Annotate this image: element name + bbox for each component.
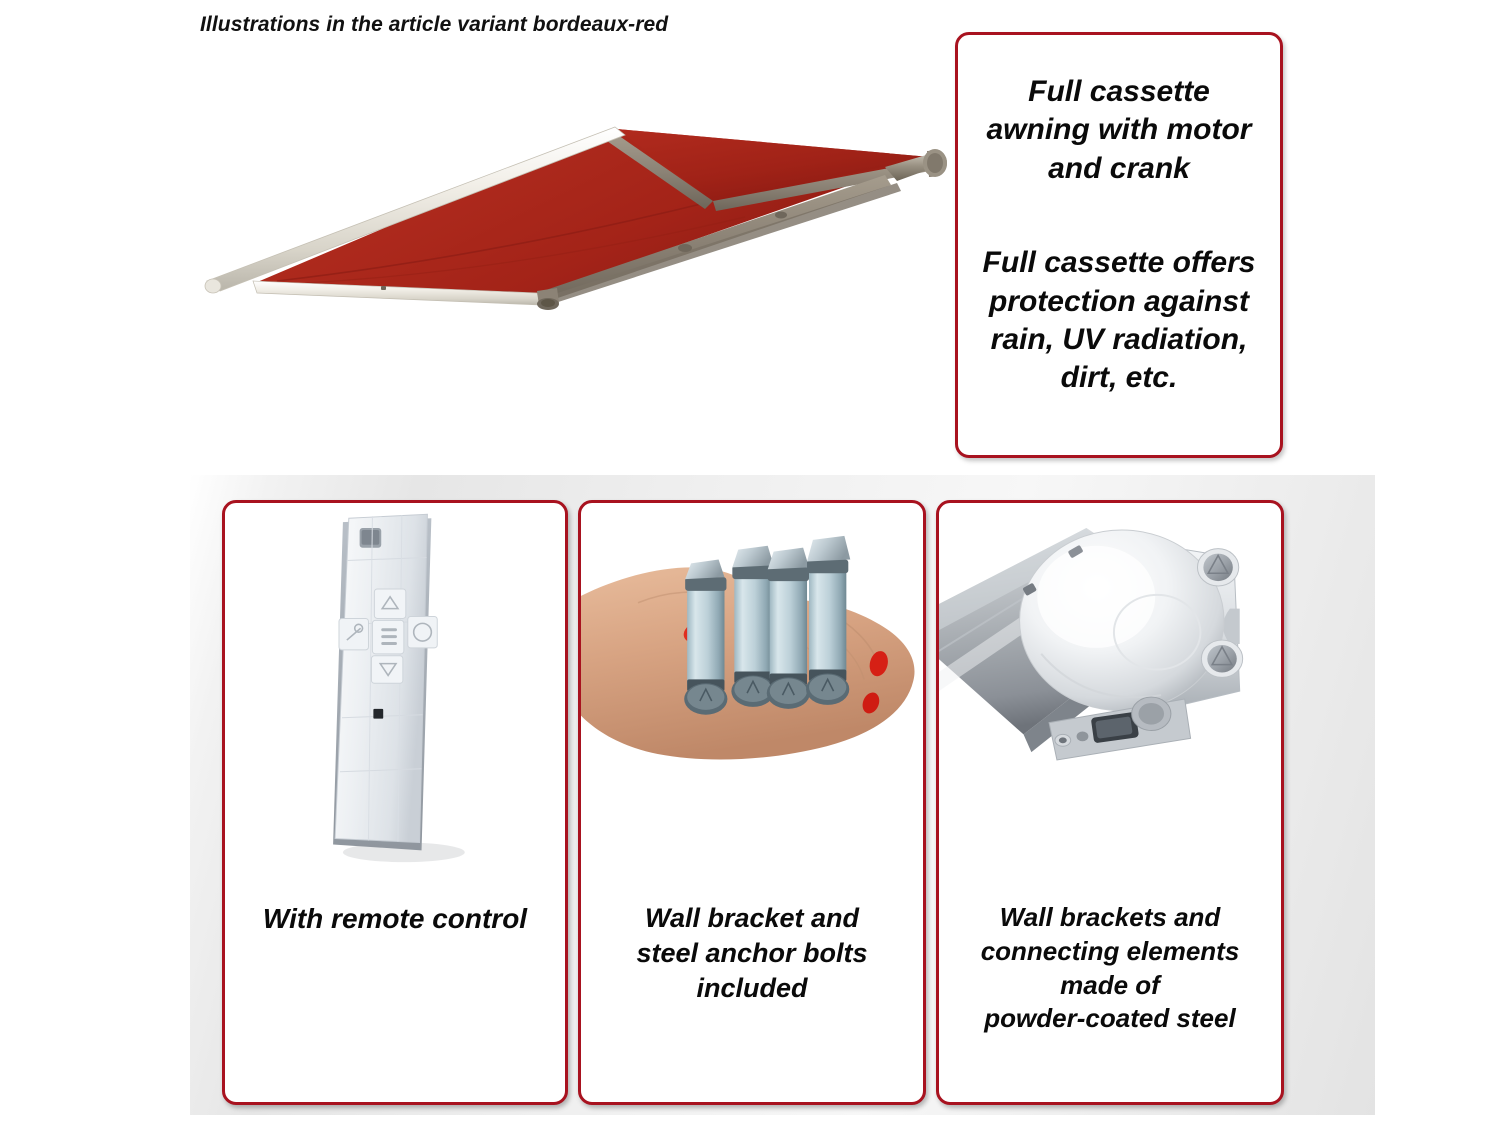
- feature-paragraph-1: Full cassette awning with motor and cran…: [974, 73, 1264, 188]
- card-wall-bracket: Wall brackets and connecting elements ma…: [936, 500, 1284, 1105]
- card-remote-control: With remote control: [222, 500, 568, 1105]
- anchor-bolts-in-hand-image: [581, 503, 923, 898]
- remote-control-image: [225, 503, 565, 898]
- feature-callout-box: Full cassette awning with motor and cran…: [955, 32, 1283, 458]
- hero-awning-image: [185, 105, 965, 335]
- header-caption: Illustrations in the article variant bor…: [200, 13, 668, 37]
- feature-paragraph-2: Full cassette offers protection against …: [974, 244, 1264, 398]
- card-anchor-bolts: Wall bracket and steel anchor bolts incl…: [578, 500, 926, 1105]
- card-anchor-bolts-caption: Wall bracket and steel anchor bolts incl…: [589, 901, 915, 1006]
- card-remote-caption: With remote control: [233, 901, 557, 937]
- wall-bracket-image: [939, 503, 1281, 898]
- card-wall-bracket-caption: Wall brackets and connecting elements ma…: [947, 901, 1273, 1036]
